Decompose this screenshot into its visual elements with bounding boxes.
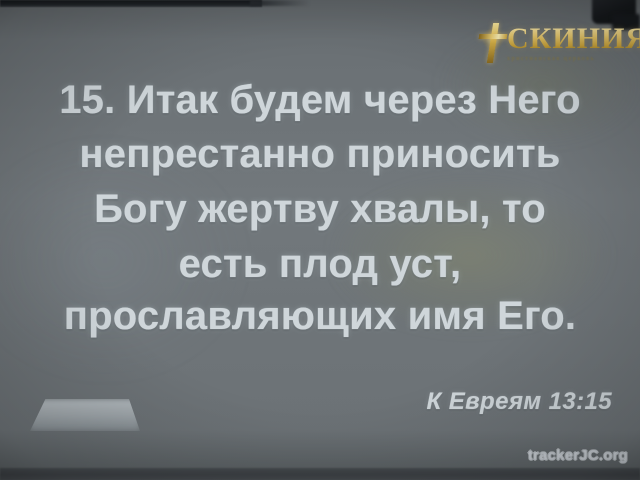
site-watermark: trackerJC.org	[528, 447, 628, 464]
video-frame: СКИНИЯ христианская церковь 15. Итак буд…	[0, 0, 640, 480]
scripture-slide: 15. Итак будем через Него непрестанно пр…	[0, 0, 640, 480]
verse-line-5: прославляющих имя Его.	[0, 294, 640, 339]
verse-line-4: есть плод уст,	[0, 242, 640, 287]
verse-line-1: 15. Итак будем через Него	[0, 78, 640, 123]
verse-line-2: непрестанно приносить	[0, 132, 640, 177]
verse-line-3: Богу жертву хвалы, то	[0, 187, 640, 232]
bottom-edge-band	[0, 468, 640, 480]
verse-citation: К Евреям 13:15	[0, 388, 612, 416]
